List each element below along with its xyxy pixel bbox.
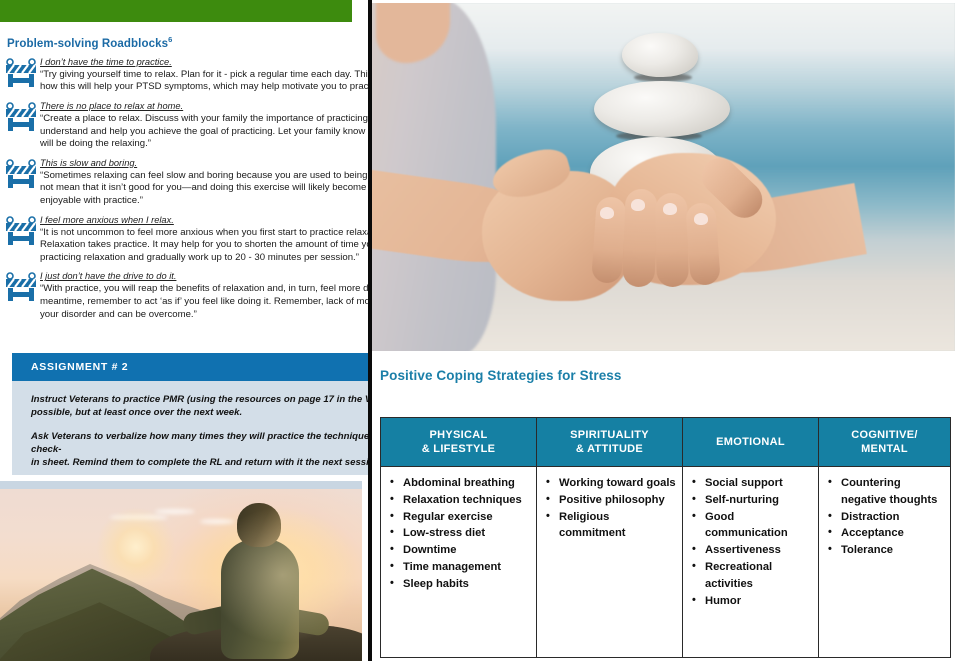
green-header-bar-gap	[352, 0, 368, 22]
column-header-spirituality: SPIRITUALITY & ATTITUDE	[537, 418, 683, 467]
green-header-bar	[0, 0, 352, 22]
cognitive-list: Countering negative thoughts Distraction…	[823, 475, 946, 559]
assignment-paragraph: Ask Veterans to verbalize how many times…	[31, 430, 368, 469]
head	[237, 503, 281, 547]
roadblock-heading: I don’t have the time to practice.	[40, 56, 368, 68]
roadblock-text: “It is not uncommon to feel more anxious…	[40, 227, 368, 265]
list-item: Abdominal breathing	[401, 475, 532, 492]
coping-strategies-section: Positive Coping Strategies for Stress PH…	[372, 355, 960, 661]
fingernail	[600, 207, 614, 219]
assignment-body: Instruct Veterans to practice PMR (using…	[12, 381, 368, 469]
table-row: Abdominal breathing Relaxation technique…	[381, 467, 951, 658]
column-header-cognitive: COGNITIVE/ MENTAL	[819, 418, 951, 467]
list-item: Recreational activities	[703, 559, 814, 593]
assignment-header: ASSIGNMENT # 2	[12, 353, 368, 381]
roadblock-text: “With practice, you will reap the benefi…	[40, 283, 368, 321]
list-item: Low-stress diet	[401, 525, 532, 542]
spirituality-list: Working toward goals Positive philosophy…	[541, 475, 678, 542]
torso	[221, 539, 299, 659]
list-item: Countering negative thoughts	[839, 475, 946, 509]
list-item: I feel more anxious when I relax. “It is…	[0, 214, 368, 271]
roadblock-text: “Try giving yourself time to relax. Plan…	[40, 69, 368, 94]
sun-flare	[96, 507, 176, 587]
list-item: Assertiveness	[703, 542, 814, 559]
list-item: Social support	[703, 475, 814, 492]
cell-spirituality: Working toward goals Positive philosophy…	[537, 467, 683, 658]
cell-emotional: Social support Self-nurturing Good commu…	[683, 467, 819, 658]
roadblock-text: “Create a place to relax. Discuss with y…	[40, 113, 368, 151]
roadblock-list: I don’t have the time to practice. “Try …	[0, 56, 368, 327]
emotional-list: Social support Self-nurturing Good commu…	[687, 475, 814, 609]
roadblock-text: “Sometimes relaxing can feel slow and bo…	[40, 170, 368, 208]
document-body: Problem-solving Roadblocks6	[0, 22, 368, 327]
page-root: Problem-solving Roadblocks6	[0, 0, 960, 661]
section-title-text: Problem-solving Roadblocks	[7, 38, 168, 50]
road-barrier-icon	[5, 272, 37, 302]
list-item: Religious commitment	[557, 509, 678, 543]
list-item: Time management	[401, 559, 532, 576]
coping-strategies-table: PHYSICAL & LIFESTYLE SPIRITUALITY & ATTI…	[380, 417, 951, 658]
list-item: Regular exercise	[401, 509, 532, 526]
list-item: Downtime	[401, 542, 532, 559]
assignment-paragraph: Instruct Veterans to practice PMR (using…	[31, 393, 368, 419]
list-item: Relaxation techniques	[401, 492, 532, 509]
list-item: I just don’t have the drive to do it. “W…	[0, 270, 368, 327]
road-barrier-icon	[5, 216, 37, 246]
list-item: Sleep habits	[401, 576, 532, 593]
list-item: This is slow and boring. “Sometimes rela…	[0, 157, 368, 214]
physical-list: Abdominal breathing Relaxation technique…	[385, 475, 532, 593]
fingernail	[663, 203, 677, 215]
road-barrier-icon	[5, 102, 37, 132]
list-item: Acceptance	[839, 525, 946, 542]
photo-divider-strip	[0, 481, 362, 489]
fingernail	[694, 213, 708, 225]
list-item: Tolerance	[839, 542, 946, 559]
stone-middle	[594, 81, 730, 137]
coping-title: Positive Coping Strategies for Stress	[380, 368, 960, 383]
list-item: Working toward goals	[557, 475, 678, 492]
stone-top	[622, 33, 698, 77]
assignment-box: ASSIGNMENT # 2 Instruct Veterans to prac…	[12, 353, 368, 475]
stones-photo	[372, 3, 955, 351]
cell-physical: Abdominal breathing Relaxation technique…	[381, 467, 537, 658]
list-item: Good communication	[703, 509, 814, 543]
list-item: Positive philosophy	[557, 492, 678, 509]
column-header-emotional: EMOTIONAL	[683, 418, 819, 467]
road-barrier-icon	[5, 58, 37, 88]
list-item: Distraction	[839, 509, 946, 526]
left-document-panel: Problem-solving Roadblocks6	[0, 0, 368, 661]
cloud	[155, 509, 195, 514]
roadblock-heading: I feel more anxious when I relax.	[40, 214, 368, 226]
fingers-group	[584, 175, 770, 295]
page-title: Problem-solving Roadblocks6	[7, 35, 368, 50]
roadblock-heading: This is slow and boring.	[40, 157, 368, 169]
road-barrier-icon	[5, 159, 37, 189]
list-item: Self-nurturing	[703, 492, 814, 509]
table-header-row: PHYSICAL & LIFESTYLE SPIRITUALITY & ATTI…	[381, 418, 951, 467]
meditation-photo	[0, 489, 362, 661]
meditating-person	[205, 499, 335, 659]
right-panel: Positive Coping Strategies for Stress PH…	[372, 0, 960, 661]
cell-cognitive: Countering negative thoughts Distraction…	[819, 467, 951, 658]
list-item: I don’t have the time to practice. “Try …	[0, 56, 368, 100]
footnote-marker: 6	[168, 35, 172, 44]
roadblock-heading: There is no place to relax at home.	[40, 100, 368, 112]
fingernail	[631, 199, 645, 211]
roadblock-heading: I just don’t have the drive to do it.	[40, 270, 368, 282]
list-item: Humor	[703, 593, 814, 610]
list-item: There is no place to relax at home. “Cre…	[0, 100, 368, 157]
column-header-physical: PHYSICAL & LIFESTYLE	[381, 418, 537, 467]
